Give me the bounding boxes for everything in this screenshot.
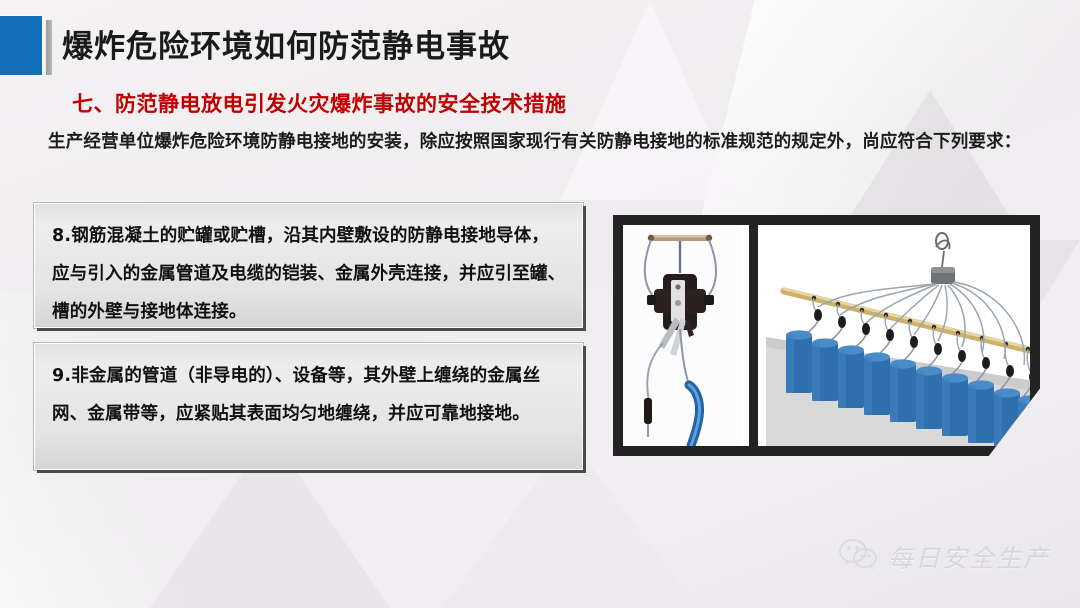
- page-title: 爆炸危险环境如何防范静电事故: [62, 20, 510, 75]
- figure-left-panel: [623, 225, 741, 446]
- watermark-text: 每日安全生产: [888, 539, 1050, 575]
- drum-grounding-diagram: [766, 225, 1030, 446]
- note-box-8-text: 8.钢筋混凝土的贮罐或贮槽，沿其内壁敷设的防静电接地导体，应与引入的金属管道及电…: [52, 217, 566, 331]
- figure-panel-divider: [749, 225, 758, 446]
- section-heading: 七、防范静电放电引发火灾爆炸事故的安全技术措施: [72, 88, 567, 118]
- note-box-9-text: 9.非金属的管道（非导电的）、设备等，其外壁上缠绕的金属丝网、金属带等，应紧贴其…: [52, 357, 566, 433]
- note-box-9: 9.非金属的管道（非导电的）、设备等，其外壁上缠绕的金属丝网、金属带等，应紧贴其…: [34, 343, 583, 470]
- lead-paragraph: 生产经营单位爆炸危险环境防静电接地的安装，除应按照国家现行有关防静电接地的标准规…: [48, 127, 1052, 157]
- watermark: 每日安全生产: [838, 538, 1050, 576]
- title-accent-square: [0, 16, 42, 75]
- figure-right-panel: [766, 225, 1030, 446]
- slide-canvas: 爆炸危险环境如何防范静电事故 七、防范静电放电引发火灾爆炸事故的安全技术措施 生…: [0, 0, 1080, 608]
- title-accent-bar: [46, 20, 52, 75]
- figure-inner: [623, 225, 1030, 446]
- figure-frame: [613, 215, 1040, 456]
- note-box-8: 8.钢筋混凝土的贮罐或贮槽，沿其内壁敷设的防静电接地导体，应与引入的金属管道及电…: [34, 203, 583, 328]
- wechat-icon: [838, 538, 878, 576]
- grounding-clamp-illustration: [623, 225, 741, 446]
